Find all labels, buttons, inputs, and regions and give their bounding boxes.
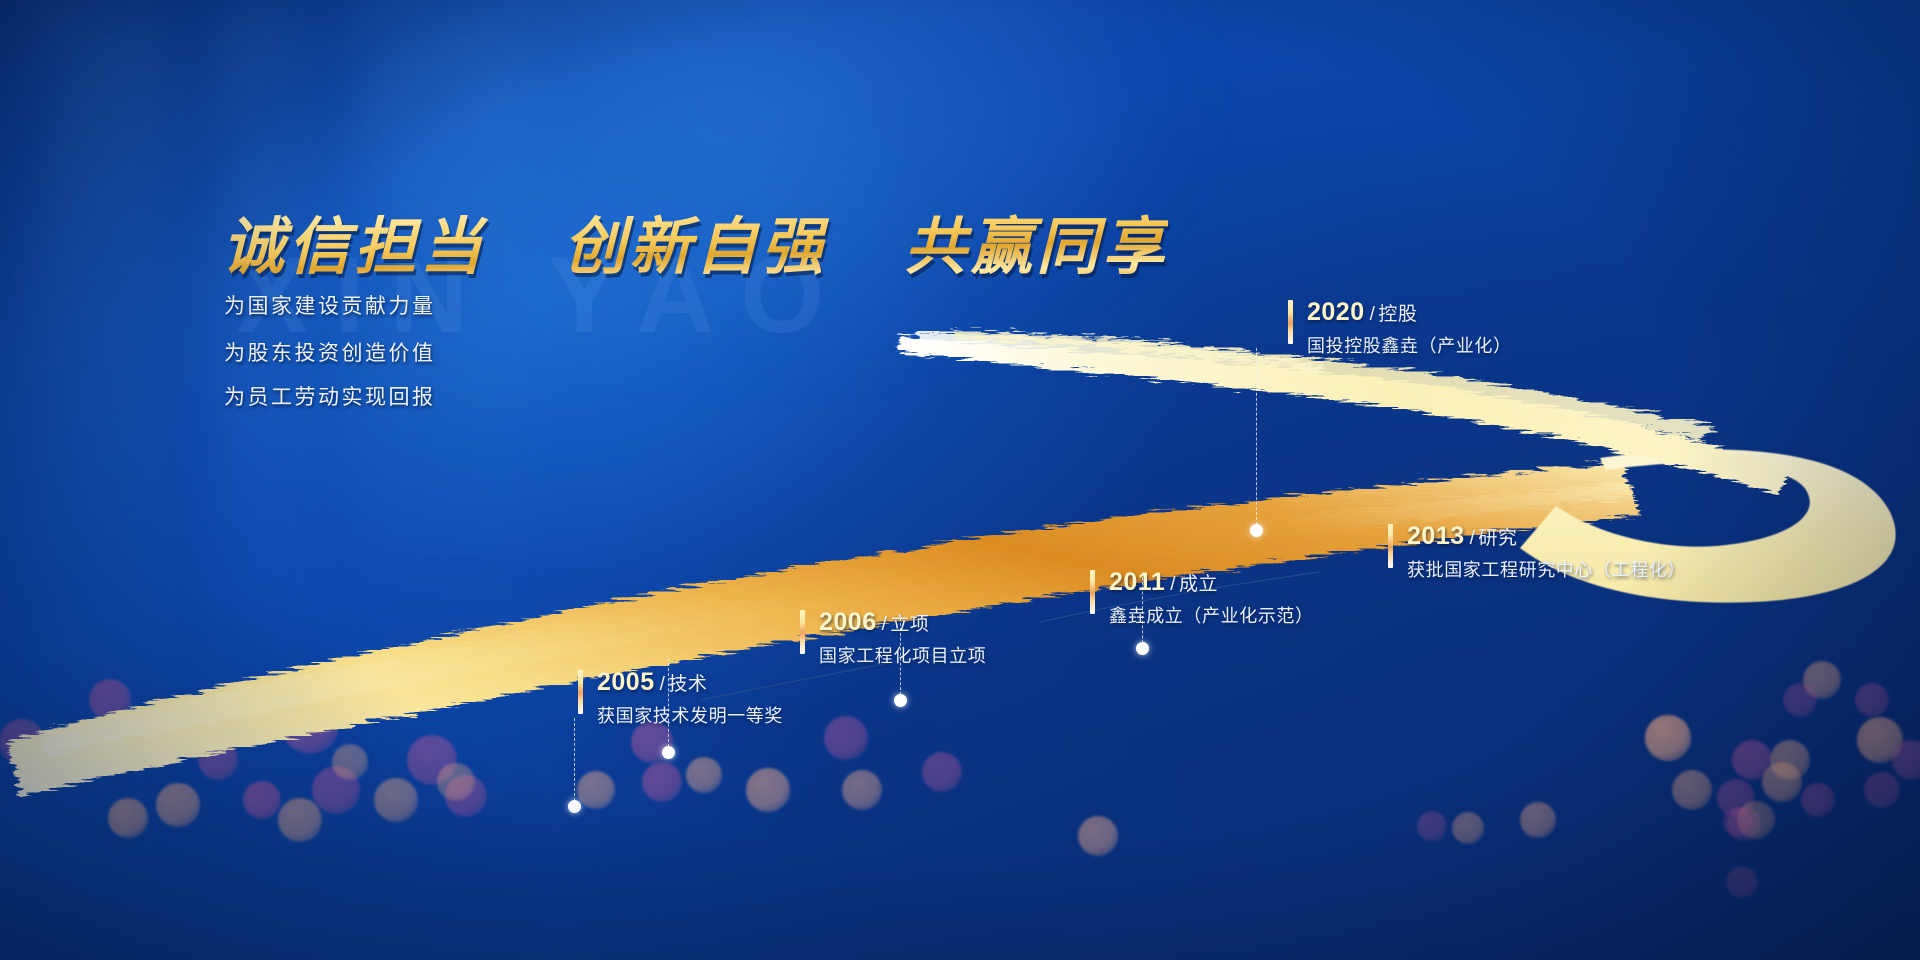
bokeh-circle [437,763,475,801]
milestone-leader-line [1256,348,1257,530]
bokeh-circle [332,744,368,780]
milestone-year: 2020/控股 [1307,298,1417,327]
bokeh-circle [0,719,45,765]
bokeh-circle [1857,717,1903,763]
headline-part-2: 创新自强 [563,210,827,283]
milestone-year: 2006/立项 [819,608,929,637]
brush-ribbon [0,0,1920,960]
headline-part-1: 诚信担当 [222,210,486,283]
bokeh-circle [1520,802,1556,838]
milestone-accent-bar [1288,300,1293,344]
bokeh-circle [407,735,457,785]
light-shaft [210,0,300,960]
milestone-separator: / [1170,574,1176,595]
bokeh-circle [1783,683,1817,717]
milestone-year-value: 2020 [1307,298,1365,326]
bokeh-circle [1737,801,1775,839]
milestone-leader-line [574,718,575,806]
milestone-accent-bar [1090,570,1095,614]
milestone-node-dot[interactable] [1250,524,1263,537]
bokeh-circle [577,771,615,809]
bokeh-circle [1717,779,1755,817]
milestone-year-value: 2006 [819,608,877,636]
bokeh-circle [312,766,360,814]
milestone-separator: / [660,674,666,695]
milestone-node-dot[interactable] [894,694,907,707]
milestone-tag: 研究 [1478,528,1517,549]
light-shaft [40,0,170,960]
bokeh-circle [1723,807,1753,837]
bokeh-circle [686,757,722,793]
bokeh-circle [243,781,281,819]
bokeh-circle [1672,770,1712,810]
bokeh-circle [1078,816,1118,856]
bokeh-circle [1727,807,1761,841]
bokeh-circle [1770,740,1810,780]
milestone-accent-bar [1388,524,1393,568]
milestone-tag: 控股 [1378,304,1417,325]
bokeh-circle [1803,661,1841,699]
bokeh-circle [1892,740,1920,780]
vignette [0,0,1920,960]
banner-stage: XIN YAO 诚信担当 创新自强 共赢同享 为国家建设贡献力量 为股东投资创造… [0,0,1920,960]
bokeh-circle [374,778,418,822]
subline-3: 为员工劳动实现回报 [224,381,436,411]
milestone-year: 2011/成立 [1109,568,1218,597]
milestone-accent-bar [800,610,805,654]
subline-2: 为股东投资创造价值 [224,337,436,367]
bokeh-circle [1726,866,1758,898]
bokeh-circle [198,740,238,780]
milestone-year: 2013/研究 [1407,522,1517,551]
bokeh-circle [842,770,882,810]
page-title: 诚信担当 创新自强 共赢同享 [222,196,1168,286]
milestone-description: 获国家技术发明一等奖 [597,702,783,728]
bokeh-circle [1801,783,1835,817]
milestone-year-value: 2005 [597,668,655,696]
bokeh-circle [108,798,148,838]
headline-part-3: 共赢同享 [904,210,1168,283]
bokeh-circle [156,783,200,827]
milestone-description: 国投控股鑫垚（产业化） [1307,332,1512,358]
milestone-leader-line [1142,572,1143,648]
light-shaft [360,0,530,960]
bokeh-circle [642,762,682,802]
milestone-separator: / [1470,528,1476,549]
milestone-tag: 技术 [668,674,707,695]
bokeh-circle [1864,772,1900,808]
milestone-node-dot[interactable] [662,746,675,759]
bokeh-circle [1732,740,1772,780]
milestone-description: 获批国家工程研究中心（工程化） [1407,556,1686,582]
milestone-leader-line [900,618,901,700]
bokeh-circle [824,716,868,760]
milestone-tag: 成立 [1179,574,1218,595]
bokeh-circle [89,679,131,721]
bokeh-circle [1417,811,1447,841]
milestone-node-dot[interactable] [1136,642,1149,655]
milestone-description: 国家工程化项目立项 [819,642,986,668]
bokeh-circle [1452,812,1484,844]
milestone-tag: 立项 [890,614,929,635]
milestone-year-value: 2013 [1407,522,1465,550]
bokeh-circle [1645,715,1691,761]
milestone-node-dot[interactable] [568,800,581,813]
milestone-separator: / [882,614,888,635]
bokeh-circle [1762,762,1802,802]
milestone-separator: / [1370,304,1376,325]
milestone-year: 2005/技术 [597,668,707,697]
bokeh-circle [1855,683,1889,717]
bokeh-circle [445,775,487,817]
bokeh-circle [922,752,962,792]
bokeh-circle [281,696,339,754]
milestone-description: 鑫垚成立（产业化示范） [1109,602,1314,628]
milestone-accent-bar [578,670,583,714]
bokeh-circle [746,768,790,812]
subline-1: 为国家建设贡献力量 [224,290,436,320]
bokeh-circle [278,798,322,842]
milestone-leader-line [668,658,669,752]
milestone-year-value: 2011 [1109,568,1165,596]
bokeh-circle [34,734,86,786]
